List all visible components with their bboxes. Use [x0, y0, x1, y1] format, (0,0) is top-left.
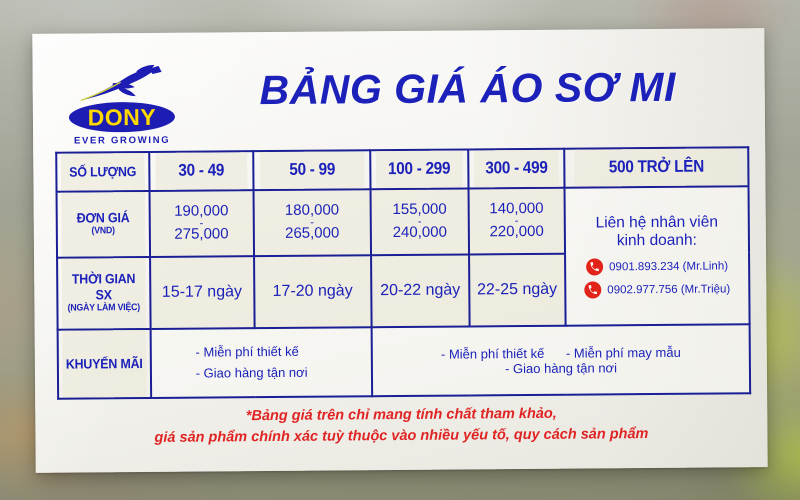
price-table: SỐ LƯỢNG 30 - 49 50 - 99 100 - 299 300 -… — [55, 146, 751, 399]
phone-number-1: 0901.893.234 (Mr.Linh) — [609, 260, 728, 273]
price-cell-4: 140,000 - 220,000 — [468, 187, 565, 254]
row-label-unit-price-main: ĐƠN GIÁ — [77, 210, 130, 225]
promotion-left-line2: - Giao hàng tận nơi — [196, 362, 369, 383]
header-tier-3: 100 - 299 — [375, 150, 463, 189]
row-label-production-time-main: THỜI GIAN SX — [72, 272, 136, 303]
price-to-1: 275,000 — [174, 225, 228, 242]
price-table-wrap: SỐ LƯỢNG 30 - 49 50 - 99 100 - 299 300 -… — [55, 146, 751, 399]
disclaimer-line1: *Bảng giá trên chỉ mang tính chất tham k… — [246, 406, 557, 424]
contact-title-line2: kinh doanh: — [569, 232, 745, 252]
phone-row-1[interactable]: 0901.893.234 (Mr.Linh) — [586, 257, 728, 275]
promotion-left-line1: - Miễn phí thiết kế — [195, 342, 368, 363]
phone-row-2[interactable]: 0902.977.756 (Mr.Triệu) — [584, 280, 730, 298]
logo-tagline: EVER GROWING — [63, 135, 181, 147]
promotion-right-item-2: - Miễn phí may mẫu — [566, 344, 681, 360]
time-cell-4: 22-25 ngày — [469, 253, 566, 326]
disclaimer-note: *Bảng giá trên chỉ mang tính chất tham k… — [35, 402, 767, 450]
price-cell-1: 190,000 - 275,000 — [149, 190, 253, 257]
dony-logo: DONY EVER GROWING — [63, 65, 182, 146]
table-row-promotion: KHUYẾN MÃI - Miễn phí thiết kế - Giao hà… — [58, 325, 751, 399]
header-tier-4: 300 - 499 — [473, 149, 560, 188]
header-tier-2: 50 - 99 — [259, 150, 365, 189]
disclaimer-line2: giá sản phẩm chính xác tuỳ thuộc vào nhi… — [35, 423, 767, 450]
time-cell-3: 20-22 ngày — [371, 254, 469, 327]
contact-title-line1: Liên hệ nhân viên — [569, 213, 745, 233]
table-row-header: SỐ LƯỢNG 30 - 49 50 - 99 100 - 299 300 -… — [56, 147, 748, 191]
logo-wordmark: DONY — [88, 105, 157, 129]
sheet-header: DONY EVER GROWING BẢNG GIÁ ÁO SƠ MI — [32, 46, 765, 150]
promotion-cell-left: - Miễn phí thiết kế - Giao hàng tận nơi — [150, 327, 372, 397]
promotion-cell-right: - Miễn phí thiết kế - Miễn phí may mẫu -… — [372, 325, 750, 397]
price-to-2: 265,000 — [285, 224, 339, 241]
header-tier-1: 30 - 49 — [154, 151, 248, 190]
phone-number-2: 0902.977.756 (Mr.Triệu) — [607, 283, 730, 296]
row-label-production-time: THỜI GIAN SX (NGÀY LÀM VIỆC) — [61, 257, 147, 330]
promotion-right-item-3: - Giao hàng tận nơi — [505, 360, 617, 376]
time-cell-2: 17-20 ngày — [254, 255, 372, 329]
phone-list: 0901.893.234 (Mr.Linh) 0902.977.756 (Mr.… — [569, 257, 745, 298]
phone-icon — [586, 258, 603, 275]
header-label-quantity: SỐ LƯỢNG — [60, 152, 146, 191]
price-cell-3: 155,000 - 240,000 — [371, 188, 469, 255]
row-label-unit-price: ĐƠN GIÁ (VND) — [60, 191, 146, 258]
price-to-3: 240,000 — [393, 223, 447, 240]
price-sheet-panel: DONY EVER GROWING BẢNG GIÁ ÁO SƠ MI SỐ L… — [32, 28, 767, 473]
logo-oval: DONY — [69, 102, 175, 133]
time-cell-1: 15-17 ngày — [150, 256, 254, 330]
row-label-promotion: KHUYẾN MÃI — [61, 329, 147, 398]
price-cell-2: 180,000 - 265,000 — [253, 189, 371, 256]
header-tier-5: 500 TRỞ LÊN — [573, 147, 739, 187]
row-label-production-time-sub: (NGÀY LÀM VIỆC) — [65, 303, 143, 315]
marlin-bird-icon — [79, 65, 165, 106]
contact-title: Liên hệ nhân viên kinh doanh: — [569, 213, 745, 252]
price-to-4: 220,000 — [489, 222, 543, 239]
row-label-unit-price-sub: (VND) — [64, 226, 142, 238]
page-title: BẢNG GIÁ ÁO SƠ MI — [198, 66, 738, 111]
promotion-right-item-1: - Miễn phí thiết kế — [441, 345, 544, 361]
contact-cell: Liên hệ nhân viên kinh doanh: — [564, 186, 749, 326]
phone-icon — [584, 281, 601, 298]
table-row-price: ĐƠN GIÁ (VND) 190,000 - 275,000 180,000 … — [57, 186, 749, 257]
